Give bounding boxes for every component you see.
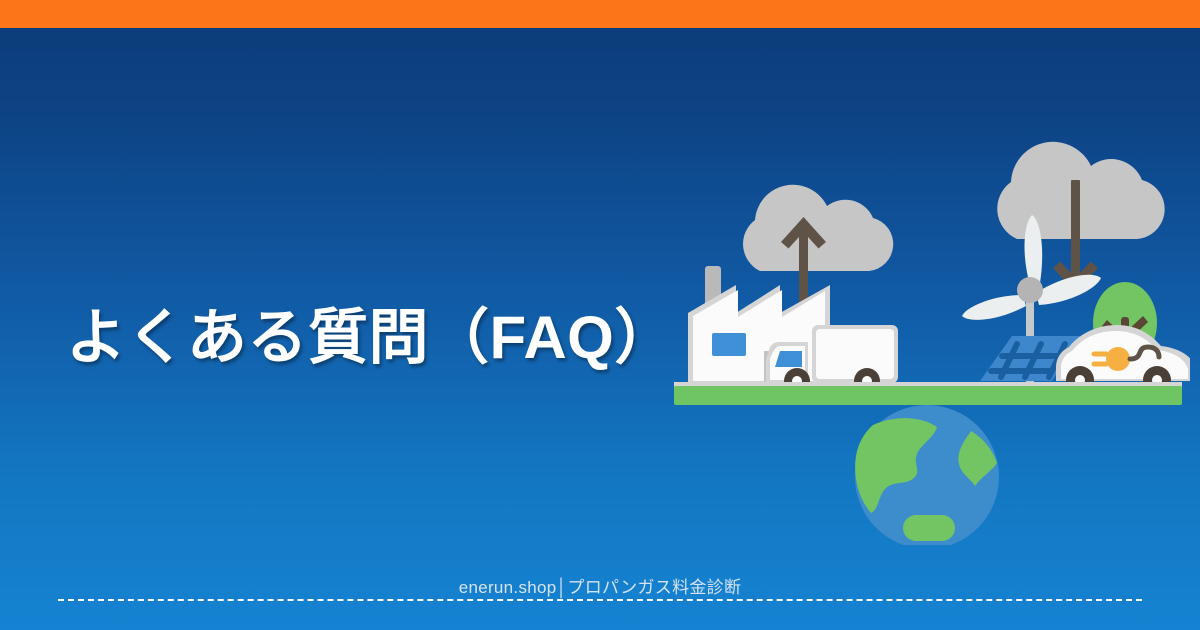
absorption-cloud-right-icon bbox=[997, 142, 1164, 293]
slide-canvas: よくある質問（FAQ） bbox=[0, 0, 1200, 630]
factory-icon bbox=[688, 266, 830, 385]
page-title: よくある質問（FAQ） bbox=[66, 306, 675, 371]
top-accent-bar bbox=[0, 0, 1200, 28]
carbon-neutral-illustration bbox=[660, 85, 1190, 545]
globe-icon bbox=[855, 405, 999, 545]
footer-divider bbox=[58, 599, 1142, 601]
balance-beam bbox=[674, 382, 1182, 405]
footer-branding: enerun.shop│プロパンガス料金診断 bbox=[0, 573, 1200, 598]
